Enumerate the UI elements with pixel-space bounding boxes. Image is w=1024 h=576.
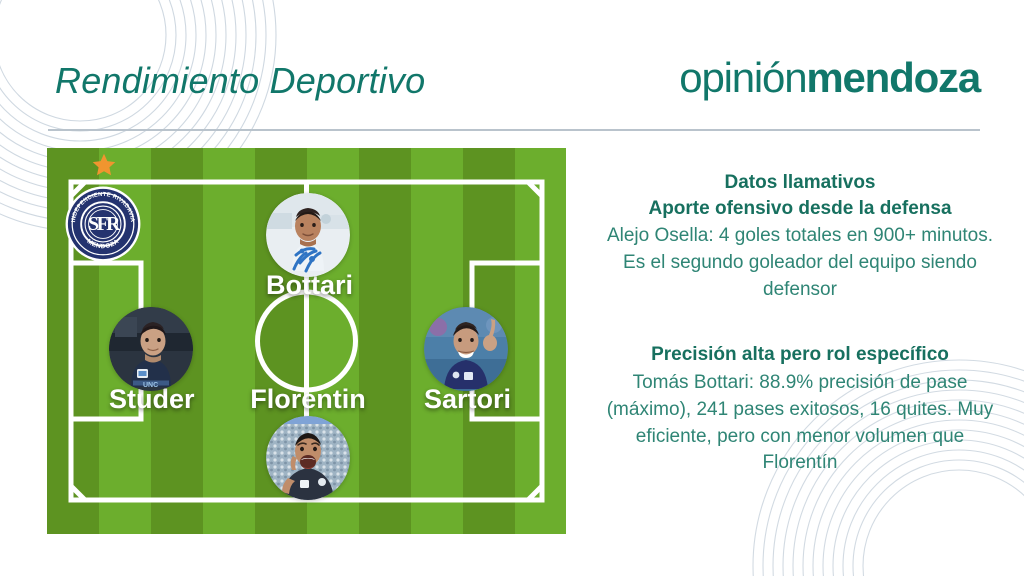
info-block-1: Datos llamativos Aporte ofensivo desde l… xyxy=(598,170,1002,304)
player-name-florentin: Florentin xyxy=(222,384,394,415)
info-panel: Datos llamativos Aporte ofensivo desde l… xyxy=(598,170,1002,477)
brand-logo: opiniónmendoza xyxy=(679,54,980,102)
header-divider xyxy=(48,129,980,131)
club-crest-icon: INDEPENDIENTE RIVADAVIA MENDOZA SFR xyxy=(64,185,142,263)
slide-root: Rendimiento Deportivo opiniónmendoza xyxy=(0,0,1024,576)
svg-text:UNC: UNC xyxy=(143,382,158,389)
page-title: Rendimiento Deportivo xyxy=(55,60,425,102)
football-pitch: INDEPENDIENTE RIVADAVIA MENDOZA SFR xyxy=(47,148,566,534)
player-photo-bottari xyxy=(266,193,350,277)
player-token-bottari[interactable]: Bottari xyxy=(266,193,350,301)
player-photo-florentin xyxy=(266,416,350,500)
player-token-studer[interactable]: UNC Studer xyxy=(109,307,193,415)
brand-logo-light: opinión xyxy=(679,54,806,101)
info-block-2-body: Tomás Bottari: 88.9% precisión de pase (… xyxy=(598,370,1002,478)
player-token-florentin[interactable]: Florentin xyxy=(266,416,350,500)
slide-header: Rendimiento Deportivo opiniónmendoza xyxy=(0,58,1024,136)
player-photo-studer: UNC xyxy=(109,307,193,391)
info-block-2: Precisión alta pero rol específico Tomás… xyxy=(598,342,1002,477)
info-block-1-body: Alejo Osella: 4 goles totales en 900+ mi… xyxy=(598,223,1002,304)
brand-logo-bold: mendoza xyxy=(806,54,980,101)
info-block-2-heading-1: Precisión alta pero rol específico xyxy=(598,342,1002,368)
svg-text:SFR: SFR xyxy=(88,214,121,235)
player-token-sartori[interactable]: Sartori xyxy=(424,307,508,415)
info-block-1-heading-1: Datos llamativos xyxy=(598,170,1002,196)
player-photo-sartori xyxy=(424,307,508,391)
info-block-1-heading-2: Aporte ofensivo desde la defensa xyxy=(598,196,1002,222)
team-star-icon xyxy=(91,152,117,178)
